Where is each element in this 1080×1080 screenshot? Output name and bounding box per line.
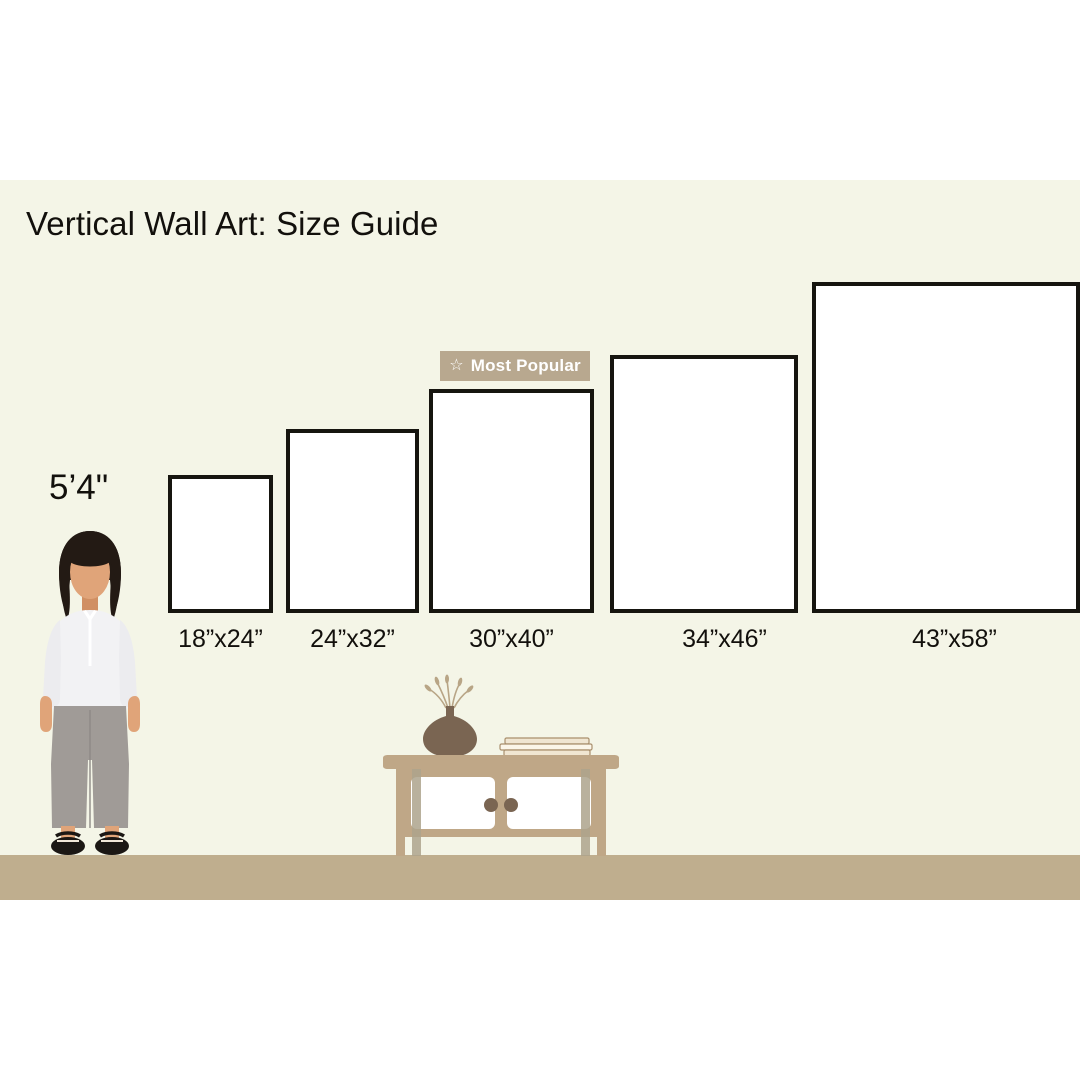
cabinet-door-left bbox=[411, 777, 495, 829]
console-table-icon bbox=[378, 660, 624, 856]
frame-30x40[interactable] bbox=[429, 389, 594, 613]
frame-43x58[interactable] bbox=[812, 282, 1080, 613]
floor-band bbox=[0, 855, 1080, 900]
knob-left bbox=[484, 798, 498, 812]
book-stack bbox=[500, 738, 592, 756]
size-guide-infographic: Vertical Wall Art: Size Guide 5’4" bbox=[0, 0, 1080, 1080]
frame-18x24[interactable] bbox=[168, 475, 273, 613]
size-label-0: 18”x24” bbox=[148, 625, 293, 654]
vase-stems bbox=[429, 680, 469, 708]
star-outline-icon: ☆ bbox=[449, 358, 464, 374]
page-title: Vertical Wall Art: Size Guide bbox=[26, 205, 439, 243]
most-popular-badge: ☆ Most Popular bbox=[440, 351, 590, 381]
size-label-4: 43”x58” bbox=[882, 625, 1027, 654]
size-label-1: 24”x32” bbox=[280, 625, 425, 654]
woman-silhouette-icon bbox=[28, 528, 152, 855]
person-height-label: 5’4" bbox=[49, 468, 108, 508]
console-table bbox=[378, 660, 624, 856]
knob-right bbox=[504, 798, 518, 812]
frame-34x46[interactable] bbox=[610, 355, 798, 613]
size-label-2: 30”x40” bbox=[439, 625, 584, 654]
most-popular-label: Most Popular bbox=[471, 356, 581, 376]
cabinet-door-right bbox=[507, 777, 591, 829]
person-reference-figure bbox=[28, 528, 152, 855]
frame-24x32[interactable] bbox=[286, 429, 419, 613]
size-label-3: 34”x46” bbox=[652, 625, 797, 654]
